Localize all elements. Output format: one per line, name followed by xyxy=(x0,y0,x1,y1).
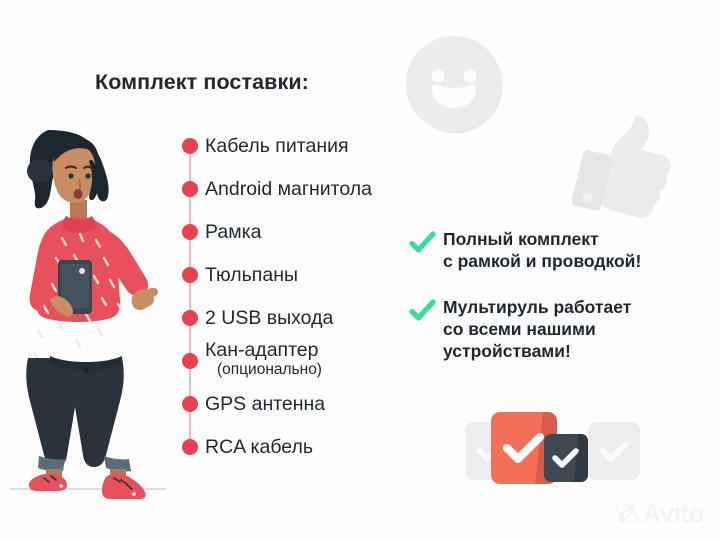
thumbs-up-icon xyxy=(572,112,682,224)
list-item: Android магнитола xyxy=(205,179,372,199)
timeline-dot xyxy=(182,181,198,197)
benefit-block: Мультируль работает со всеми нашими устр… xyxy=(409,296,631,363)
check-icon xyxy=(409,229,436,256)
list-item: GPS антенна xyxy=(205,394,325,414)
timeline-dot xyxy=(182,138,198,154)
list-item-label: RCA кабель xyxy=(205,436,313,458)
avito-watermark: Avito xyxy=(616,500,704,526)
list-item-label: 2 USB выхода xyxy=(205,307,333,329)
checkbox-cluster xyxy=(465,408,640,490)
list-item-sublabel: (опционально) xyxy=(217,362,322,378)
timeline-dot xyxy=(182,267,198,283)
list-item: 2 USB выхода xyxy=(205,308,333,328)
avito-watermark-text: Avito xyxy=(642,500,704,526)
timeline-dot xyxy=(182,353,198,369)
check-icon xyxy=(409,297,436,324)
timeline-dot xyxy=(182,224,198,240)
checkbox-gray-right xyxy=(588,422,640,480)
list-item-label: GPS антенна xyxy=(205,393,325,415)
promo-image-canvas: Комплект поставки: xyxy=(0,0,720,540)
timeline-dot xyxy=(182,310,198,326)
package-timeline xyxy=(178,138,202,456)
list-item: Рамка xyxy=(205,222,261,242)
benefit-text: Полный комплект с рамкой и проводкой! xyxy=(443,228,641,272)
list-item: RCA кабель xyxy=(205,437,313,457)
smiley-face-icon xyxy=(402,32,506,136)
avito-logo-icon xyxy=(616,502,638,524)
timeline-dot xyxy=(182,396,198,412)
list-item-label: Рамка xyxy=(205,221,261,243)
list-item-label: Кан-адаптер xyxy=(205,339,319,361)
benefit-text: Мультируль работает со всеми нашими устр… xyxy=(443,296,631,363)
list-item-label: Кабель питания xyxy=(205,135,349,157)
list-item: Кабель питания xyxy=(205,136,349,156)
list-item: Тюльпаны xyxy=(205,265,298,285)
woman-pointing-illustration xyxy=(8,108,168,508)
list-item: Кан-адаптер (опционально) xyxy=(205,340,322,379)
timeline-dot xyxy=(182,439,198,455)
benefit-block: Полный комплект с рамкой и проводкой! xyxy=(409,228,641,272)
checkbox-dark xyxy=(544,434,588,482)
list-item-label: Android магнитола xyxy=(205,178,372,200)
list-item-label: Тюльпаны xyxy=(205,264,298,286)
page-title: Комплект поставки: xyxy=(95,70,309,95)
